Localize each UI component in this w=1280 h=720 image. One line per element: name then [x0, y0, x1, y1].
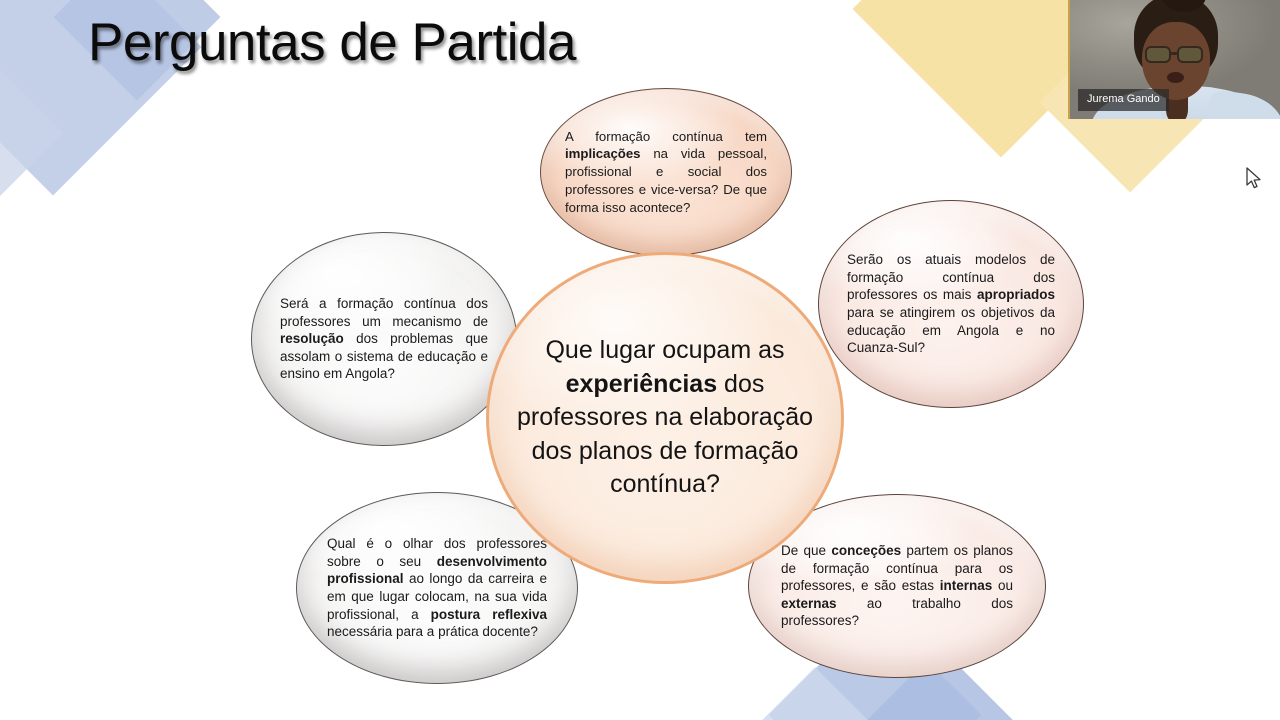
question-text-apropriados: Serão os atuais modelos de formação cont… — [819, 251, 1083, 357]
question-oval-resolucao: Será a formação contínua dos professores… — [251, 232, 517, 446]
video-person-mouth — [1167, 72, 1184, 83]
question-text-desenvolvimento-profissional: Qual é o olhar dos professores sobre o s… — [297, 535, 577, 641]
decorative-diamond-blue-top-left-3 — [0, 27, 63, 239]
question-text-implicacoes: A formação contínua tem implicações na v… — [541, 128, 791, 217]
question-text-concecoes: De que conceções partem os planos de for… — [749, 542, 1045, 630]
participant-name-label: Jurema Gando — [1078, 89, 1169, 111]
participant-video-tile[interactable]: Jurema Gando — [1068, 0, 1280, 119]
video-person-glasses-right — [1177, 46, 1203, 63]
video-person-glasses-bridge — [1171, 52, 1177, 55]
question-text-central: Que lugar ocupam as experiências dos pro… — [489, 334, 841, 502]
presentation-slide: Perguntas de Partida A formação contínua… — [0, 0, 1280, 720]
question-oval-central: Que lugar ocupam as experiências dos pro… — [486, 252, 844, 584]
mouse-cursor-icon — [1245, 166, 1265, 194]
question-oval-implicacoes: A formação contínua tem implicações na v… — [540, 88, 792, 256]
video-person-glasses-left — [1145, 46, 1171, 63]
question-oval-apropriados: Serão os atuais modelos de formação cont… — [818, 200, 1084, 408]
question-text-resolucao: Será a formação contínua dos professores… — [252, 295, 516, 383]
slide-title: Perguntas de Partida — [88, 14, 576, 72]
